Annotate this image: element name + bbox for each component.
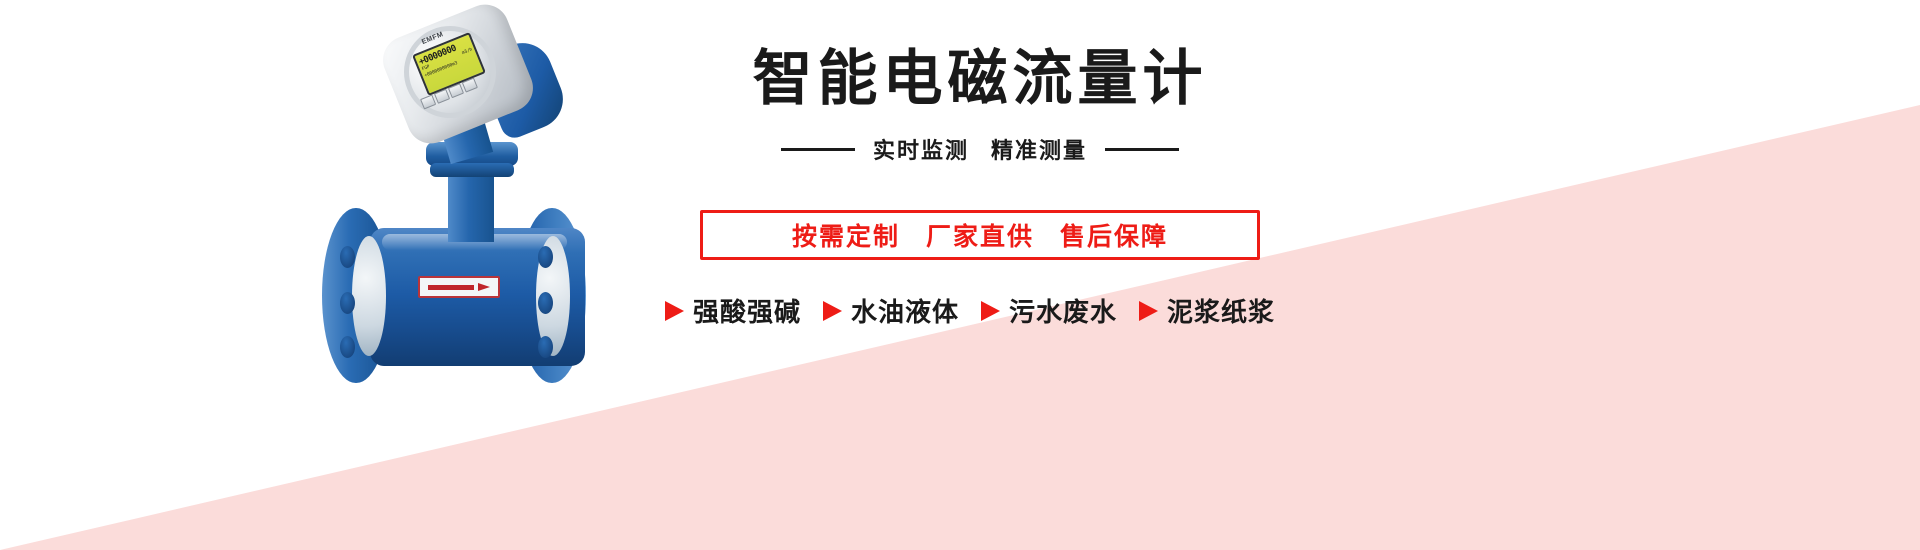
feature-item: 泥浆纸浆 bbox=[1139, 292, 1275, 329]
feature-label: 强酸强碱 bbox=[693, 292, 801, 329]
subtitle-part-1: 实时监测 bbox=[873, 138, 969, 163]
feature-label: 污水废水 bbox=[1009, 292, 1117, 329]
promo-text: 按需定制厂家直供售后保障 bbox=[792, 217, 1168, 253]
flange-bolt bbox=[340, 246, 355, 268]
flange-bolt bbox=[538, 292, 553, 314]
triangle-right-icon bbox=[823, 301, 842, 321]
promo-item-1: 按需定制 bbox=[792, 223, 900, 251]
banner-copy: 智能电磁流量计 实时监测精准测量 按需定制厂家直供售后保障 强酸强碱 水油液体 … bbox=[660, 0, 1660, 550]
flange-bolt bbox=[538, 246, 553, 268]
subtitle-dash-left bbox=[781, 148, 855, 151]
subtitle-dash-right bbox=[1105, 148, 1179, 151]
feature-list: 强酸强碱 水油液体 污水废水 泥浆纸浆 bbox=[610, 292, 1330, 329]
promo-badge: 按需定制厂家直供售后保障 bbox=[700, 210, 1260, 260]
triangle-right-icon bbox=[981, 301, 1000, 321]
feature-item: 污水废水 bbox=[981, 292, 1117, 329]
flow-direction-arrow-icon bbox=[418, 276, 500, 298]
promo-item-2: 厂家直供 bbox=[926, 223, 1034, 251]
banner-title: 智能电磁流量计 bbox=[660, 44, 1300, 114]
flange-bolt bbox=[340, 336, 355, 358]
product-banner: EMFM +0000000 FGP m3/h +0000000000m3 智能电… bbox=[0, 0, 1920, 550]
promo-item-3: 售后保障 bbox=[1060, 223, 1168, 251]
flange-bolt bbox=[340, 292, 355, 314]
feature-label: 泥浆纸浆 bbox=[1167, 292, 1275, 329]
feature-item: 强酸强碱 bbox=[665, 292, 801, 329]
triangle-right-icon bbox=[1139, 301, 1158, 321]
flange-bolt bbox=[538, 336, 553, 358]
subtitle-part-2: 精准测量 bbox=[991, 138, 1087, 163]
triangle-right-icon bbox=[665, 301, 684, 321]
banner-subtitle: 实时监测精准测量 bbox=[660, 133, 1300, 165]
feature-item: 水油液体 bbox=[823, 292, 959, 329]
flange-liner-left bbox=[352, 236, 386, 356]
flowmeter-product-image: EMFM +0000000 FGP m3/h +0000000000m3 bbox=[300, 0, 660, 440]
subtitle-text: 实时监测精准测量 bbox=[873, 133, 1087, 165]
feature-label: 水油液体 bbox=[851, 292, 959, 329]
transmitter-collar-lower bbox=[430, 163, 514, 177]
